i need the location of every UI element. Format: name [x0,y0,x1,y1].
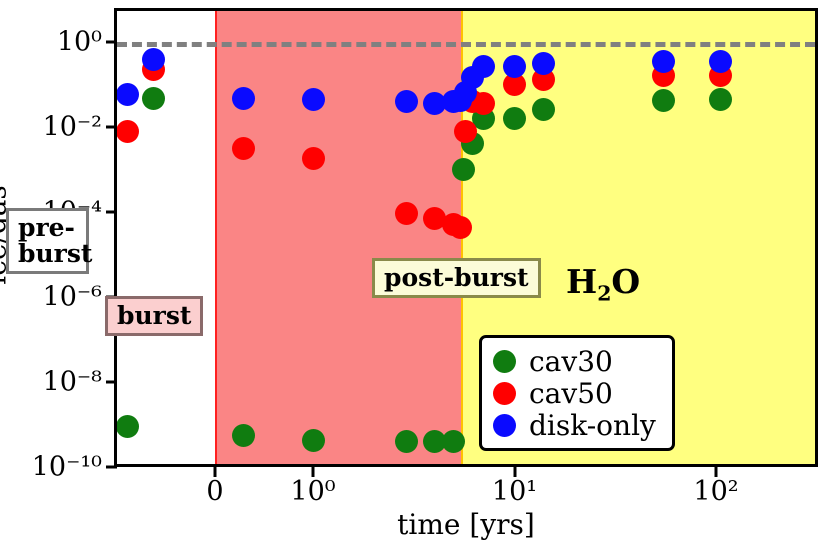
legend-label-cav50: cav50 [529,377,613,410]
annotation-post-burst: post-burst [372,258,541,298]
legend-swatch-cav30 [493,350,516,373]
data-point-cav30-4 [395,430,418,453]
y-tick-label-0: 10⁰ [0,27,102,58]
y-tick-label-1: 10⁻² [0,112,102,143]
data-point-cav30-0 [142,87,165,110]
data-point-cav50-3 [302,147,325,170]
legend-swatch-disk-only [493,414,516,437]
data-point-disk-only-14 [709,50,732,73]
data-point-cav30-13 [709,88,732,111]
legend-item-cav50[interactable]: cav50 [493,377,656,409]
region-burst-edge [215,11,217,464]
y-tick-label-5: 10⁻¹⁰ [0,452,102,483]
plot-area [114,8,818,467]
annotation-pre-burst-line1: pre- [18,215,77,241]
legend-item-disk-only[interactable]: disk-only [493,409,656,441]
data-point-cav30-12 [652,89,675,112]
figure-canvas: 10⁰10⁻²10⁻⁴10⁻⁶10⁻⁸10⁻¹⁰ ice/gas 010⁰10¹… [0,0,830,543]
species-formula: H2O [566,262,640,301]
data-point-cav30-1 [116,415,139,438]
x-tick-label-2: 10¹ [492,476,537,507]
legend-label-disk-only: disk-only [529,409,656,442]
data-point-cav30-3 [302,429,325,452]
legend: cav30cav50disk-only [479,335,675,451]
data-point-cav50-4 [395,202,418,225]
annotation-pre-burst: pre- burst [6,208,89,274]
data-point-disk-only-10 [472,55,495,78]
data-point-disk-only-2 [232,87,255,110]
y-tick-label-3: 10⁻⁶ [0,282,102,313]
data-point-disk-only-3 [302,88,325,111]
legend-swatch-cav50 [493,382,516,405]
data-point-cav50-1 [116,120,139,143]
legend-item-cav30[interactable]: cav30 [493,345,656,377]
x-axis-label: time [yrs] [397,508,535,541]
region-burst-shading [215,11,463,464]
data-point-disk-only-4 [395,90,418,113]
data-point-cav50-7 [449,216,472,239]
x-tick-label-1: 10⁰ [290,476,335,507]
annotation-species-label: H2O [566,262,640,301]
data-point-cav30-2 [232,424,255,447]
x-tick-label-0: 0 [206,476,223,507]
data-point-disk-only-1 [116,83,139,106]
unity-reference-line [117,42,815,47]
data-point-disk-only-12 [532,52,555,75]
data-point-cav30-10 [503,107,526,130]
annotation-pre-burst-line2: burst [18,241,77,267]
legend-label-cav30: cav30 [529,345,613,378]
annotation-burst: burst [105,296,203,336]
data-point-disk-only-13 [652,50,675,73]
data-point-cav50-8 [454,120,477,143]
x-tick-label-3: 10² [693,476,738,507]
y-tick-label-4: 10⁻⁸ [0,367,102,398]
data-point-cav50-2 [232,137,255,160]
